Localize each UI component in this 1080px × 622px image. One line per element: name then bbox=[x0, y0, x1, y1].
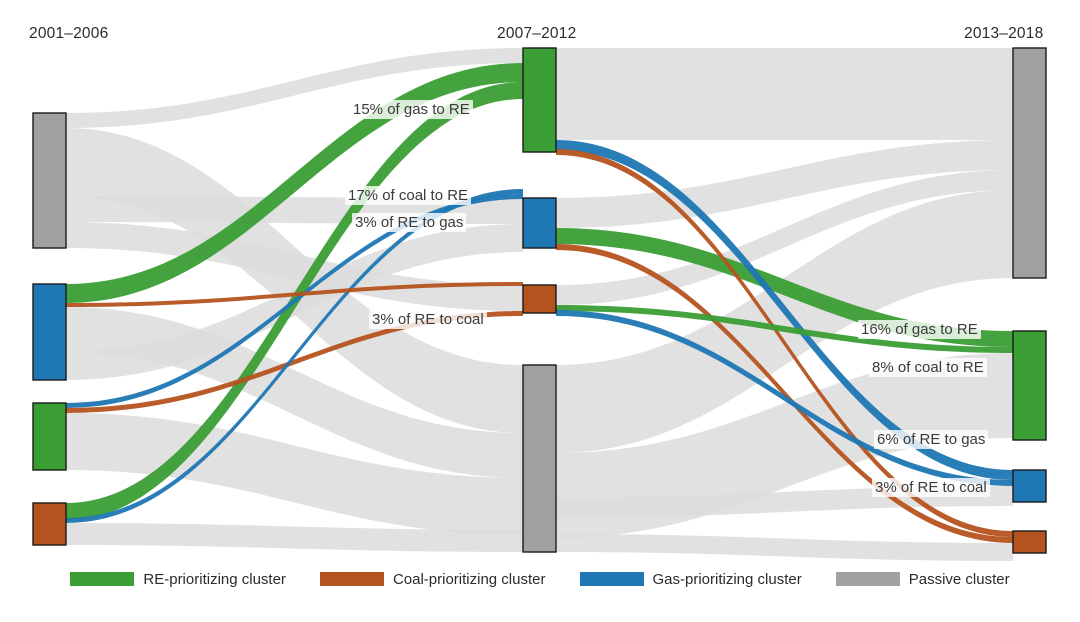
sankey-node-p3_passive[interactable] bbox=[1013, 48, 1046, 278]
column-header-p1: 2001–2006 bbox=[29, 25, 108, 43]
sankey-node-p3_re[interactable] bbox=[1013, 331, 1046, 440]
lbl-3-re-gas: 3% of RE to gas bbox=[352, 213, 466, 232]
sankey-node-p3_gas[interactable] bbox=[1013, 470, 1046, 502]
legend-swatch-icon bbox=[580, 572, 644, 586]
sankey-node-p1_passive[interactable] bbox=[33, 113, 66, 248]
legend-label: Passive cluster bbox=[909, 571, 1010, 588]
legend-item-3[interactable]: Passive cluster bbox=[836, 571, 1010, 588]
sankey-node-p2_gas[interactable] bbox=[523, 198, 556, 248]
sankey-link-p2_re-to-p3_passive[interactable] bbox=[556, 48, 1013, 140]
legend-label: RE-prioritizing cluster bbox=[143, 571, 286, 588]
sankey-node-p2_passive[interactable] bbox=[523, 365, 556, 552]
legend: RE-prioritizing clusterCoal-prioritizing… bbox=[0, 564, 1080, 594]
sankey-node-p1_re[interactable] bbox=[33, 403, 66, 470]
lbl-16-gas-re: 16% of gas to RE bbox=[858, 320, 981, 339]
sankey-node-p1_coal[interactable] bbox=[33, 503, 66, 545]
sankey-node-p3_coal[interactable] bbox=[1013, 531, 1046, 553]
sankey-canvas bbox=[0, 0, 1080, 622]
lbl-17-coal-re: 17% of coal to RE bbox=[345, 186, 471, 205]
column-header-p2: 2007–2012 bbox=[497, 25, 576, 43]
lbl-8-coal-re: 8% of coal to RE bbox=[869, 358, 987, 377]
sankey-node-p1_gas[interactable] bbox=[33, 284, 66, 380]
sankey-node-p2_coal[interactable] bbox=[523, 285, 556, 313]
legend-item-2[interactable]: Gas-prioritizing cluster bbox=[580, 571, 802, 588]
legend-swatch-icon bbox=[70, 572, 134, 586]
sankey-diagram-stage: 2001–20062007–20122013–2018 15% of gas t… bbox=[0, 0, 1080, 622]
legend-label: Coal-prioritizing cluster bbox=[393, 571, 546, 588]
lbl-15-gas-re: 15% of gas to RE bbox=[350, 100, 473, 119]
legend-item-1[interactable]: Coal-prioritizing cluster bbox=[320, 571, 546, 588]
legend-label: Gas-prioritizing cluster bbox=[653, 571, 802, 588]
legend-swatch-icon bbox=[836, 572, 900, 586]
legend-swatch-icon bbox=[320, 572, 384, 586]
lbl-3-re-coal: 3% of RE to coal bbox=[369, 310, 487, 329]
sankey-link-p2_passive-to-p3_coal[interactable] bbox=[556, 534, 1013, 561]
lbl-6-re-gas: 6% of RE to gas bbox=[874, 430, 988, 449]
legend-item-0[interactable]: RE-prioritizing cluster bbox=[70, 571, 286, 588]
column-header-p3: 2013–2018 bbox=[964, 25, 1043, 43]
lbl-3-re-coal-r: 3% of RE to coal bbox=[872, 478, 990, 497]
sankey-node-p2_re[interactable] bbox=[523, 48, 556, 152]
